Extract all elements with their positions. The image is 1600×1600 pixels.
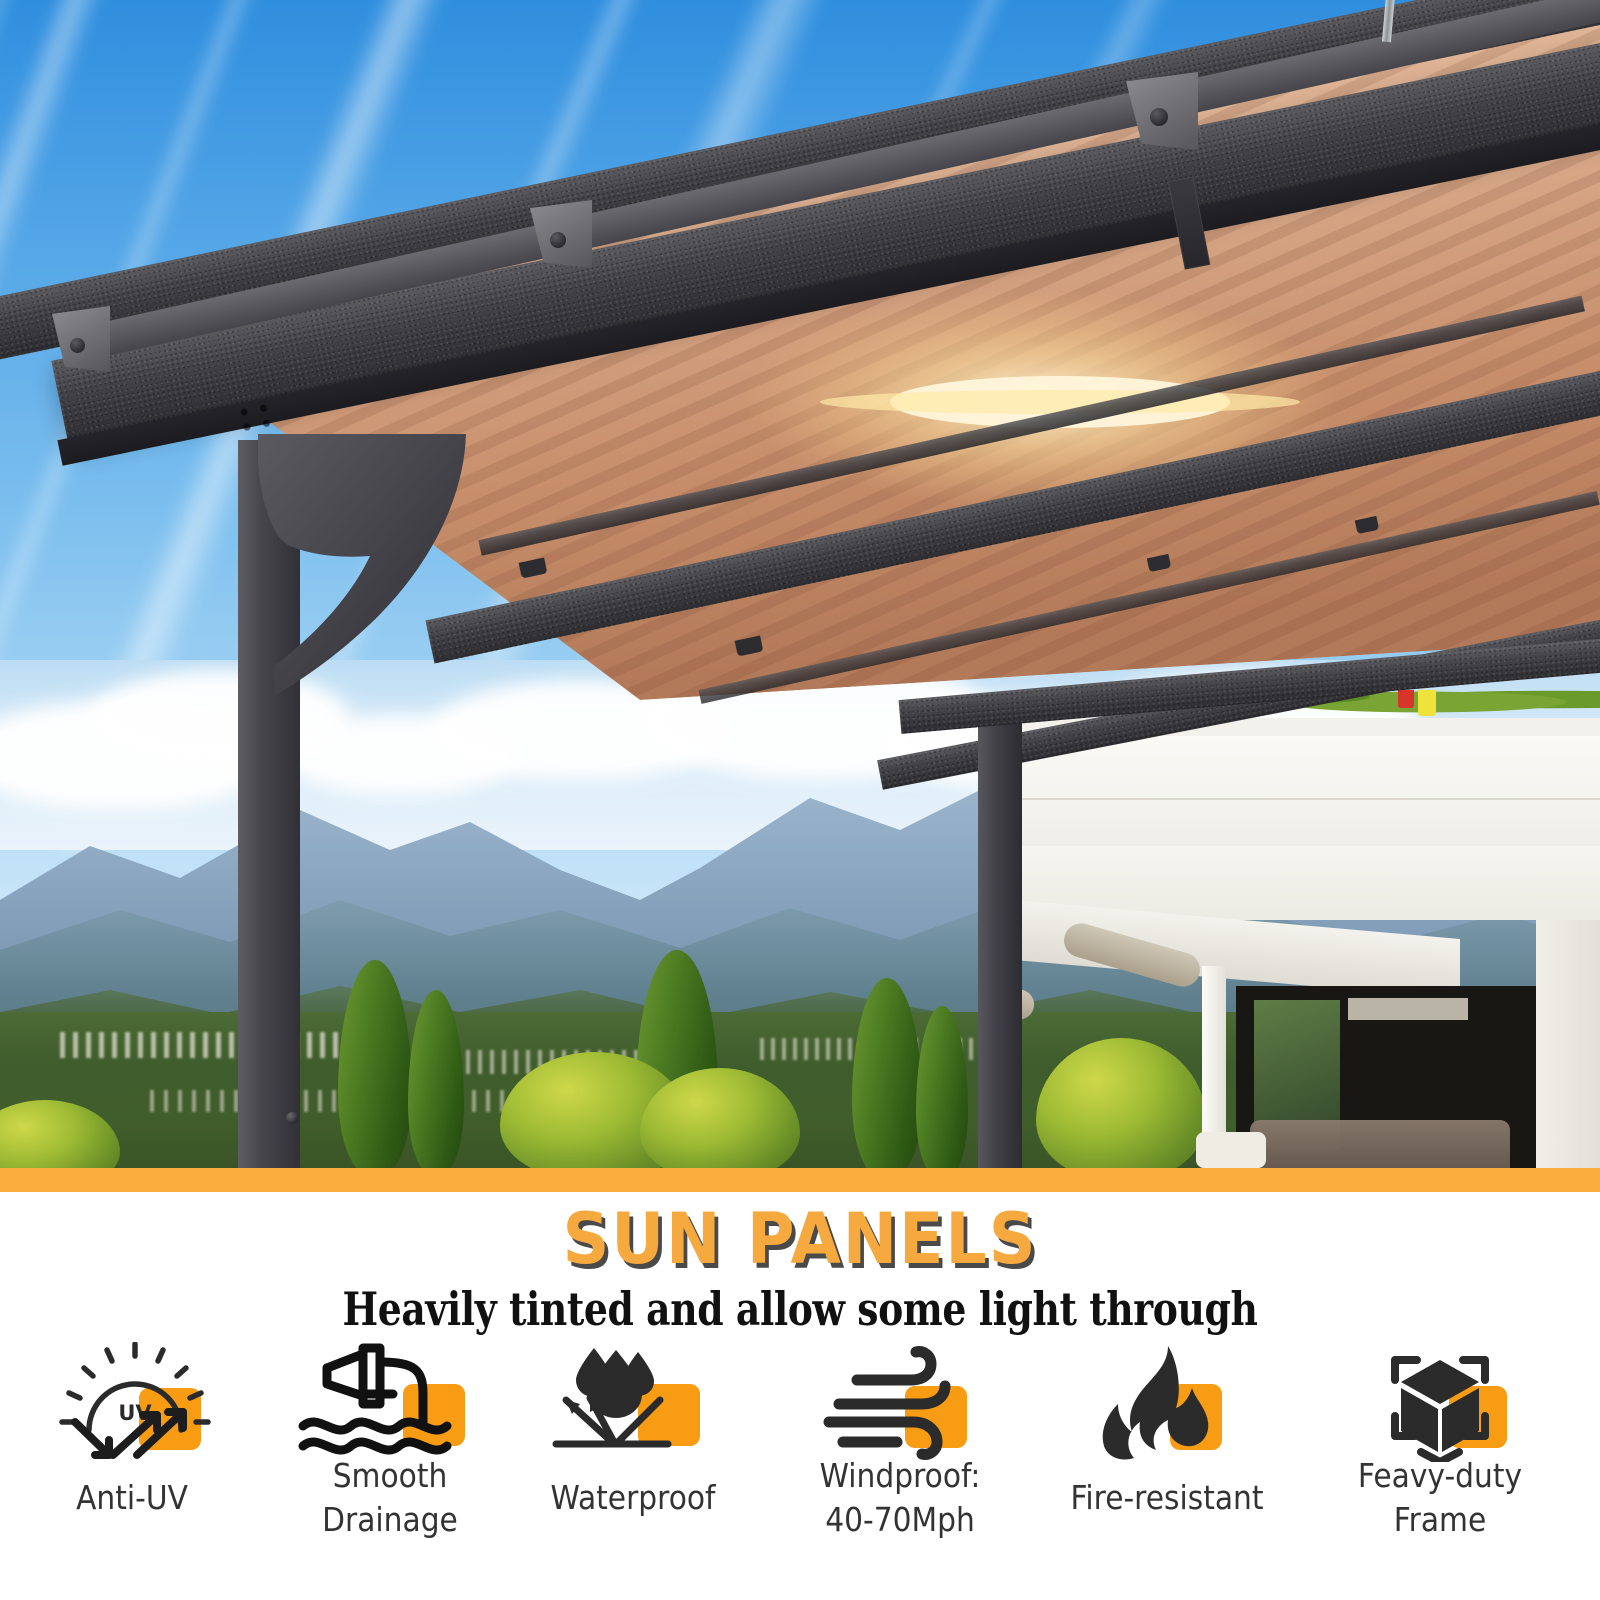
bracket-bolt <box>1150 108 1168 126</box>
heavy-duty-frame-icon <box>1325 1342 1555 1462</box>
feature-list: UV Anti-UV <box>0 1342 1600 1598</box>
anti-uv-glyph: UV <box>17 1342 247 1462</box>
feature-label-line2: Drainage <box>287 1498 494 1542</box>
bracket-bolt <box>550 232 566 248</box>
waterproof-icon <box>518 1342 748 1462</box>
fire-glyph <box>1052 1342 1282 1462</box>
feature-label-line1: Feavy-duty <box>1337 1454 1544 1498</box>
anti-uv-icon: UV <box>17 1342 247 1462</box>
page-title: SUN PANELS <box>56 1198 1544 1280</box>
decorative-corbel <box>258 430 488 700</box>
frame-cube-glyph <box>1325 1342 1555 1462</box>
feature-item-fire-resistant: Fire-resistant <box>1052 1342 1282 1598</box>
drainage-icon <box>275 1342 505 1462</box>
windproof-icon <box>785 1342 1015 1462</box>
feature-label-line2: 40-70Mph <box>797 1498 1004 1542</box>
page-subtitle: Heavily tinted and allow some light thro… <box>144 1282 1456 1336</box>
bracket-bolt <box>70 338 85 353</box>
orange-divider-bar <box>0 1168 1600 1192</box>
feature-label-line1: Smooth <box>287 1454 494 1498</box>
right-post <box>978 700 1022 1168</box>
drainage-glyph <box>275 1342 505 1462</box>
pergola-structure <box>0 0 1600 1168</box>
feature-label: Anti-UV <box>29 1476 236 1520</box>
feature-label-line1: Windproof: <box>797 1454 1004 1498</box>
waterproof-glyph <box>518 1342 748 1462</box>
fire-resistant-icon <box>1052 1342 1282 1462</box>
feature-panel: SUN PANELS Heavily tinted and allow some… <box>0 1192 1600 1600</box>
feature-label: Fire-resistant <box>1064 1476 1271 1520</box>
feature-item-waterproof: Waterproof <box>518 1342 748 1598</box>
feature-item-anti-uv: UV Anti-UV <box>17 1342 247 1598</box>
post-bolt <box>286 1112 298 1124</box>
feature-item-windproof: Windproof: 40-70Mph <box>785 1342 1015 1598</box>
feature-label: Waterproof <box>530 1476 737 1520</box>
page-title-text: SUN PANELS <box>563 1198 1038 1280</box>
feature-item-smooth-drainage: Smooth Drainage <box>275 1342 505 1598</box>
product-infographic: SUN PANELS Heavily tinted and allow some… <box>0 0 1600 1600</box>
windproof-glyph <box>785 1342 1015 1462</box>
feature-label-line2: Frame <box>1337 1498 1544 1542</box>
feature-item-heavy-duty-frame: Feavy-duty Frame <box>1325 1342 1555 1598</box>
hero-photo <box>0 0 1600 1168</box>
